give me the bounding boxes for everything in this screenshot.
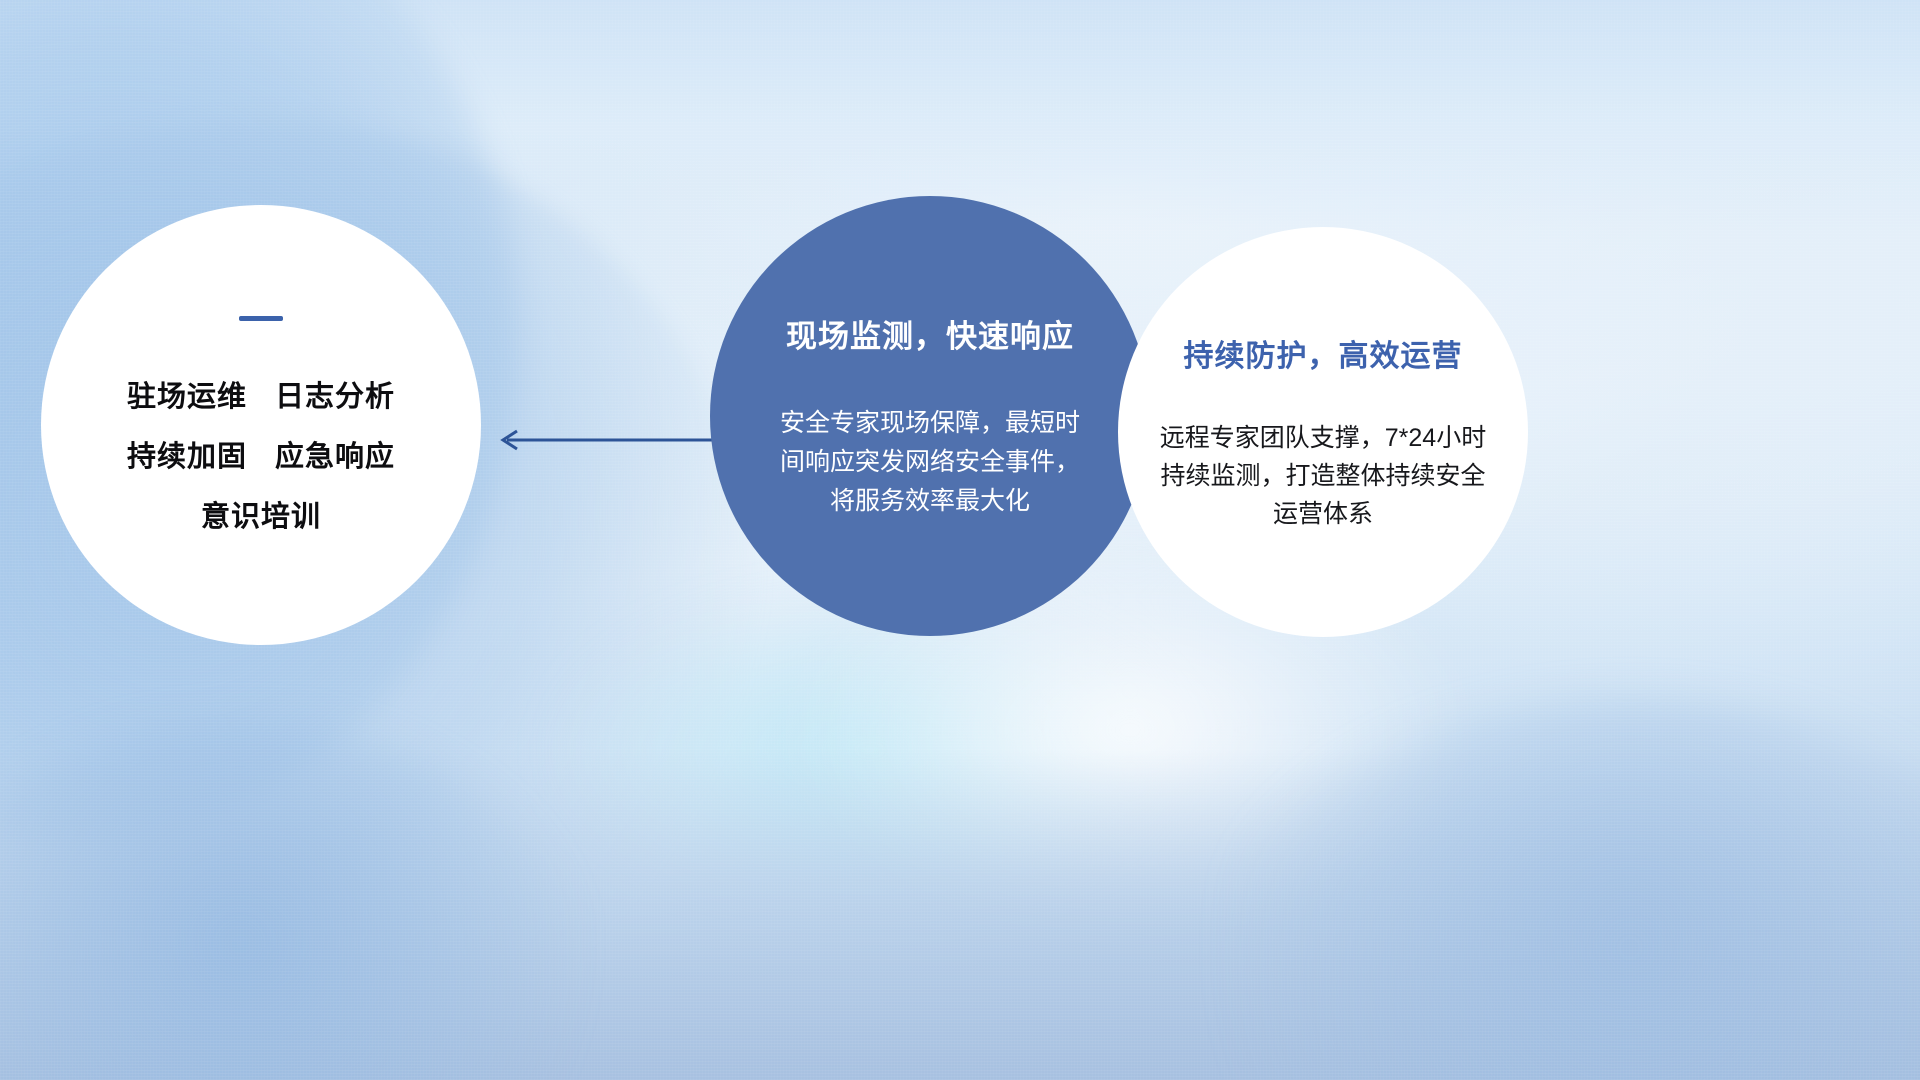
feature-title-remote: 持续防护，高效运营 [1184, 331, 1463, 375]
title-divider [239, 316, 283, 321]
capability-tag: 日志分析 [275, 373, 395, 415]
capability-tag-row: 驻场运维 日志分析 [127, 373, 395, 415]
feature-circle-onsite: 现场监测，快速响应 安全专家现场保障，最短时间响应突发网络安全事件，将服务效率最… [710, 196, 1150, 636]
flow-arrow-left-icon [495, 425, 725, 455]
capability-tag: 驻场运维 [127, 373, 247, 415]
slide-canvas: 驻场运维 日志分析 持续加固 应急响应 意识培训 现场监测，快速响应 安全专家现… [0, 0, 1920, 1080]
capability-tag: 持续加固 [127, 433, 247, 475]
feature-body-onsite: 安全专家现场保障，最短时间响应突发网络安全事件，将服务效率最大化 [780, 404, 1080, 520]
capability-circle-left: 驻场运维 日志分析 持续加固 应急响应 意识培训 [41, 205, 481, 645]
feature-circle-remote: 持续防护，高效运营 远程专家团队支撑，7*24小时持续监测，打造整体持续安全运营… [1118, 227, 1528, 637]
capability-tag: 意识培训 [201, 493, 321, 535]
feature-title-onsite: 现场监测，快速响应 [786, 311, 1074, 356]
capability-tag-row: 意识培训 [201, 493, 321, 535]
capability-tag: 应急响应 [275, 433, 395, 475]
capability-tag-row: 持续加固 应急响应 [127, 433, 395, 475]
feature-body-remote: 远程专家团队支撑，7*24小时持续监测，打造整体持续安全运营体系 [1153, 419, 1493, 533]
capability-tag-list: 驻场运维 日志分析 持续加固 应急响应 意识培训 [127, 373, 395, 535]
